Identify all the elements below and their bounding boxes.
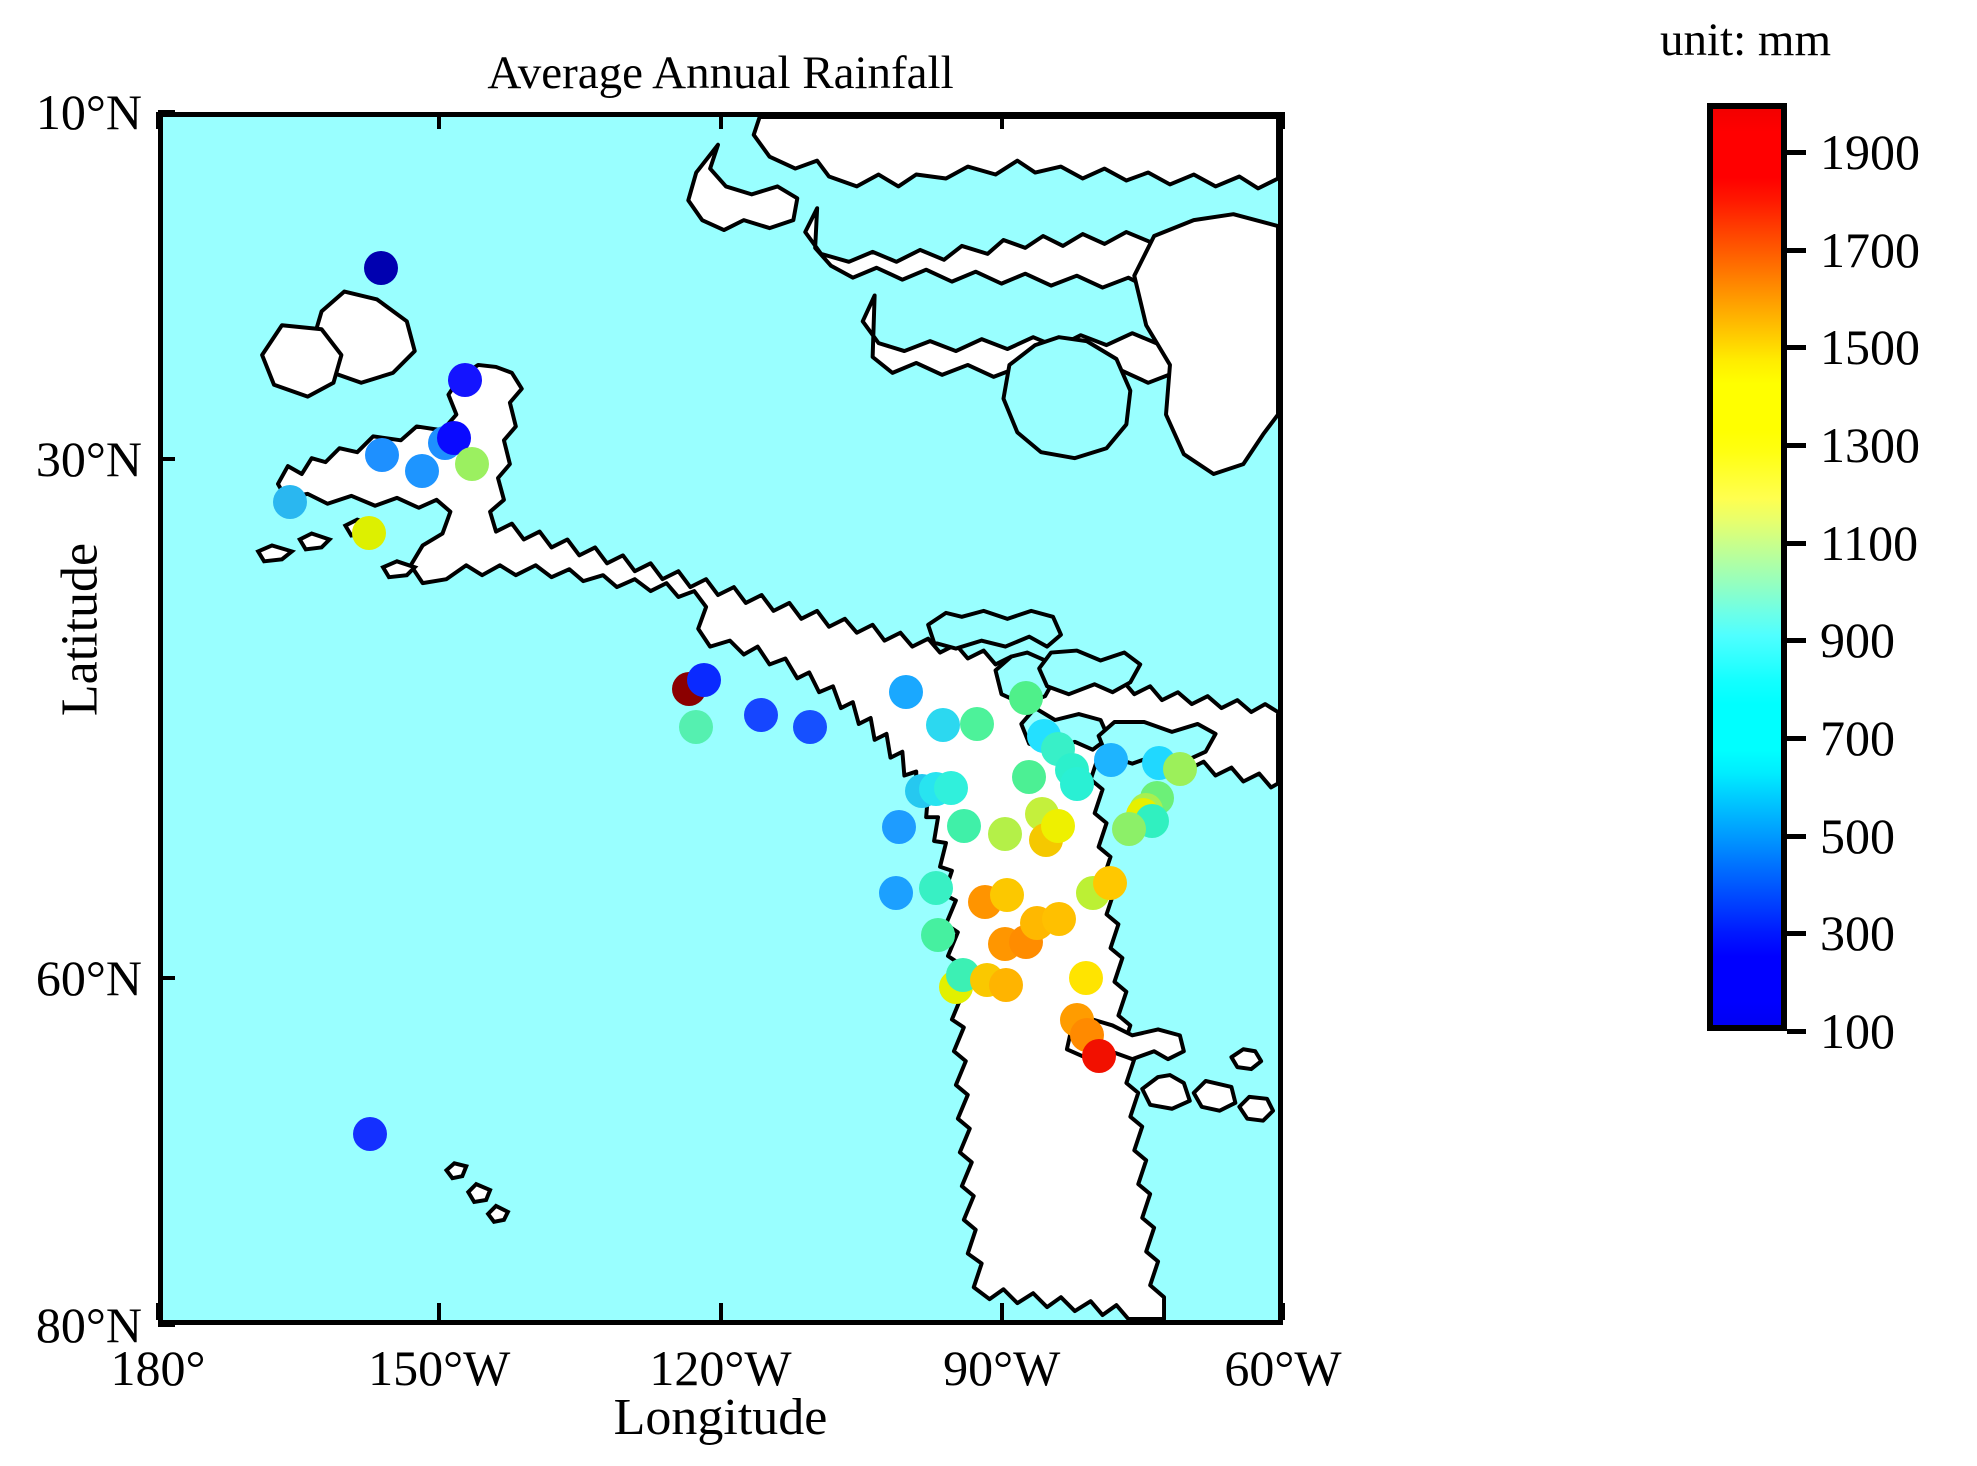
rainfall-data-point[interactable]: [679, 710, 713, 744]
colorbar-tick: [1787, 736, 1806, 741]
rainfall-data-point[interactable]: [879, 876, 913, 910]
x-axis-tick: [1281, 1303, 1285, 1320]
rainfall-points-layer: [163, 117, 1278, 1320]
rainfall-data-point[interactable]: [455, 447, 489, 481]
rainfall-data-point[interactable]: [1041, 809, 1075, 843]
colorbar-tick: [1787, 931, 1806, 936]
x-axis-title: Longitude: [158, 1388, 1283, 1447]
colorbar-unit-label: unit: mm: [1660, 13, 1831, 67]
colorbar-tick: [1787, 345, 1806, 350]
colorbar-tick-label: 1500: [1820, 318, 1920, 376]
rainfall-data-point[interactable]: [926, 708, 960, 742]
x-axis-tick: [1000, 1303, 1004, 1320]
colorbar-gradient: [1713, 109, 1781, 1025]
rainfall-data-point[interactable]: [889, 675, 923, 709]
rainfall-data-point[interactable]: [882, 810, 916, 844]
colorbar-tick-label: 1100: [1820, 514, 1918, 572]
colorbar-tick: [1787, 541, 1806, 546]
rainfall-data-point[interactable]: [921, 918, 955, 952]
rainfall-data-point[interactable]: [1042, 902, 1076, 936]
colorbar-tick-label: 1300: [1820, 416, 1920, 474]
rainfall-data-point[interactable]: [405, 454, 439, 488]
rainfall-data-point[interactable]: [744, 698, 778, 732]
x-axis-tick-top: [437, 112, 441, 129]
colorbar-tick-label: 1700: [1820, 221, 1920, 279]
rainfall-data-point[interactable]: [365, 438, 399, 472]
rainfall-data-point[interactable]: [947, 809, 981, 843]
colorbar-tick-label: 1900: [1820, 123, 1920, 181]
rainfall-data-point[interactable]: [934, 771, 968, 805]
rainfall-data-point[interactable]: [990, 878, 1024, 912]
map-plot-area[interactable]: [158, 112, 1283, 1325]
figure-canvas: Average Annual Rainfall: [0, 0, 1977, 1466]
colorbar-tick: [1787, 248, 1806, 253]
rainfall-data-point[interactable]: [1069, 961, 1103, 995]
rainfall-data-point[interactable]: [687, 663, 721, 697]
rainfall-data-point[interactable]: [919, 871, 953, 905]
rainfall-data-point[interactable]: [1163, 752, 1197, 786]
y-axis-tick: [158, 1323, 175, 1327]
rainfall-data-point[interactable]: [793, 710, 827, 744]
rainfall-data-point[interactable]: [353, 1117, 387, 1151]
colorbar-tick: [1787, 1029, 1806, 1034]
x-axis-tick: [437, 1303, 441, 1320]
rainfall-data-point[interactable]: [988, 817, 1022, 851]
rainfall-data-point[interactable]: [960, 707, 994, 741]
rainfall-data-point[interactable]: [1060, 767, 1094, 801]
y-axis-tick-label: 80°N: [0, 1296, 142, 1354]
y-axis-tick-label: 60°N: [0, 949, 142, 1007]
rainfall-data-point[interactable]: [1112, 812, 1146, 846]
x-axis-tick-top: [1281, 112, 1285, 129]
y-axis-tick: [158, 976, 175, 980]
colorbar-tick: [1787, 443, 1806, 448]
x-axis-tick: [156, 1303, 160, 1320]
rainfall-data-point[interactable]: [364, 251, 398, 285]
colorbar-tick-label: 700: [1820, 709, 1895, 767]
colorbar-tick-label: 300: [1820, 904, 1895, 962]
rainfall-data-point[interactable]: [1094, 743, 1128, 777]
rainfall-data-point[interactable]: [1093, 866, 1127, 900]
x-axis-tick: [719, 1303, 723, 1320]
rainfall-data-point[interactable]: [448, 363, 482, 397]
colorbar[interactable]: [1707, 103, 1787, 1031]
y-axis-tick: [158, 457, 175, 461]
rainfall-data-point[interactable]: [1082, 1039, 1116, 1073]
rainfall-data-point[interactable]: [352, 516, 386, 550]
rainfall-data-point[interactable]: [989, 968, 1023, 1002]
x-axis-tick-top: [1000, 112, 1004, 129]
page-title: Average Annual Rainfall: [158, 50, 1283, 97]
rainfall-data-point[interactable]: [1012, 760, 1046, 794]
rainfall-data-point[interactable]: [1009, 681, 1043, 715]
colorbar-tick: [1787, 834, 1806, 839]
colorbar-tick-label: 100: [1820, 1002, 1895, 1060]
colorbar-tick: [1787, 638, 1806, 643]
y-axis-tick-label: 10°N: [0, 83, 142, 141]
colorbar-tick: [1787, 150, 1806, 155]
rainfall-data-point[interactable]: [273, 485, 307, 519]
y-axis-tick: [158, 110, 175, 114]
y-axis-title: Latitude: [51, 450, 110, 810]
colorbar-tick-label: 900: [1820, 611, 1895, 669]
colorbar-tick-label: 500: [1820, 807, 1895, 865]
x-axis-tick-top: [156, 112, 160, 129]
x-axis-tick-top: [719, 112, 723, 129]
